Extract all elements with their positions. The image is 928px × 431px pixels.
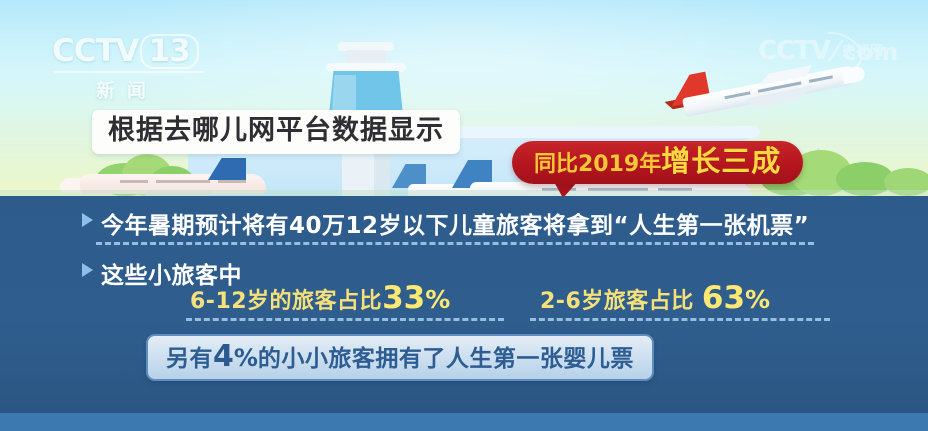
channel-name-label: 新闻 bbox=[96, 76, 214, 103]
airplane-tail bbox=[208, 158, 246, 180]
logo-rule bbox=[54, 71, 204, 73]
bullet-triangle-icon bbox=[82, 263, 93, 277]
stat-label: 6-12岁的旅客占比 bbox=[190, 289, 382, 314]
badge-prefix: 同比2019年 bbox=[534, 152, 661, 177]
box-suffix: 的小小旅客拥有了人生第一张婴儿票 bbox=[258, 346, 634, 372]
airplane-windows bbox=[156, 180, 210, 183]
stat-unit: % bbox=[745, 285, 770, 314]
airplane-windows bbox=[120, 180, 148, 183]
panel-line-1: 今年暑期预计将有40万12岁以下儿童旅客将拿到“人生第一张机票” bbox=[101, 206, 809, 240]
headline-pill: 根据去哪儿网平台数据显示 bbox=[92, 110, 460, 154]
infant-ticket-box: 另有4%的小小旅客拥有了人生第一张婴儿票 bbox=[146, 334, 654, 381]
watermark-cn-label: 央视网 bbox=[842, 40, 884, 59]
badge-emphasis: 增长三成 bbox=[661, 144, 781, 178]
box-prefix: 另有 bbox=[166, 346, 213, 372]
channel-number: 13 bbox=[140, 34, 199, 69]
stat-label: 2-6岁旅客占比 bbox=[540, 289, 702, 314]
headline-text: 根据去哪儿网平台数据显示 bbox=[108, 116, 444, 146]
divider-dashed bbox=[96, 242, 814, 245]
cctv13-logo: CCTV13 新闻 bbox=[52, 34, 214, 96]
bullet-triangle-icon bbox=[82, 213, 93, 227]
infant-ticket-text: 另有4%的小小旅客拥有了人生第一张婴儿票 bbox=[166, 340, 634, 373]
cctv-wordmark: CCTV bbox=[52, 33, 139, 69]
divider-dashed bbox=[186, 318, 504, 321]
divider-dashed bbox=[530, 318, 830, 321]
panel-bottom-strip bbox=[0, 413, 928, 431]
stat-unit: % bbox=[425, 285, 450, 314]
tower-upper-brim bbox=[326, 63, 406, 72]
stat-value: 63 bbox=[702, 280, 745, 316]
broadcast-graphic: CCTV13 新闻 央视网 CCTV / com 根据去哪儿网平台数据显示 同比… bbox=[0, 0, 928, 431]
watermark-row: CCTV / com bbox=[758, 38, 918, 64]
airplane-windows bbox=[218, 180, 246, 183]
tower-cabin-highlight bbox=[332, 75, 356, 111]
cctv-com-watermark: 央视网 CCTV / com bbox=[758, 38, 918, 80]
stat-value: 33 bbox=[382, 280, 425, 316]
box-unit: % bbox=[234, 344, 258, 372]
cctv13-logo-main: CCTV13 bbox=[52, 34, 214, 69]
badge-text: 同比2019年增长三成 bbox=[534, 147, 781, 176]
stat-item-6-12: 6-12岁的旅客占比33% bbox=[190, 283, 450, 314]
statistics-row: 6-12岁的旅客占比33% 2-6岁旅客占比 63% bbox=[0, 283, 928, 317]
tower-neck bbox=[346, 50, 386, 64]
growth-badge: 同比2019年增长三成 bbox=[512, 141, 803, 184]
box-value: 4 bbox=[213, 339, 234, 374]
stat-item-2-6: 2-6岁旅客占比 63% bbox=[540, 283, 770, 314]
